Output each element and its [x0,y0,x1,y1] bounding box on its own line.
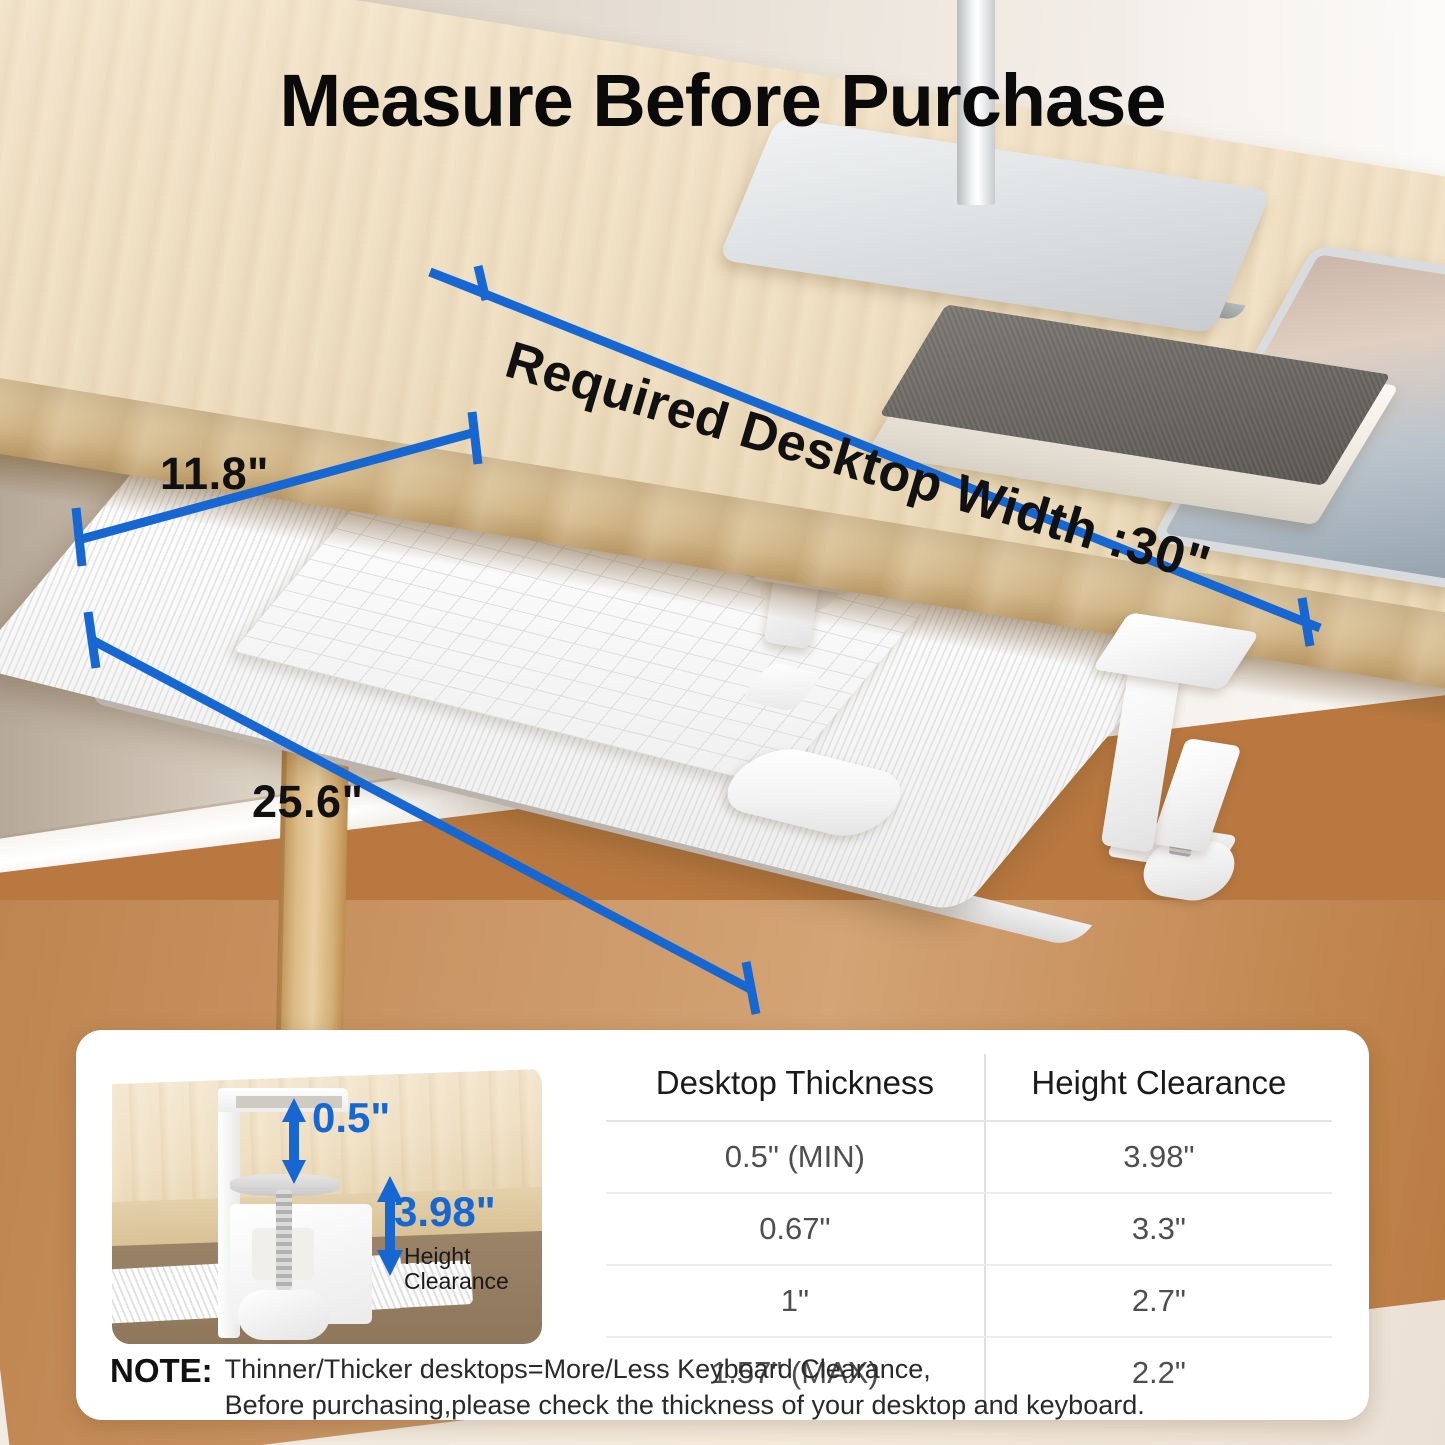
table-cell-thickness: 0.5" (MIN) [606,1121,985,1193]
inset-clearance-caption: Height Clearance [404,1244,509,1295]
inset-clearance-label: 3.98" [394,1188,496,1236]
inset-clearance-caption-line2: Clearance [404,1269,509,1294]
note-text: Thinner/Thicker desktops=More/Less Keybo… [225,1352,1145,1420]
note-line-2: Before purchasing,please check the thick… [225,1388,1145,1420]
page-title: Measure Before Purchase [0,58,1445,143]
spec-card: 0.5" 3.98" Height Clearance Desktop Thic… [76,1030,1369,1420]
clamp-closeup-photo: 0.5" 3.98" Height Clearance [112,1066,542,1344]
table-cell-thickness: 0.67" [606,1193,985,1265]
table-cell-clearance: 3.3" [985,1193,1332,1265]
clearance-table: Desktop Thickness Height Clearance 0.5" … [606,1054,1332,1374]
table-cell-clearance: 2.7" [985,1265,1332,1337]
table-row: 1" 2.7" [606,1265,1332,1337]
note-line-1: Thinner/Thicker desktops=More/Less Keybo… [225,1352,1145,1388]
table-header-row: Desktop Thickness Height Clearance [606,1054,1332,1121]
note-label: NOTE: [110,1352,213,1390]
thickness-arrow-down [282,1160,306,1184]
table-cell-thickness: 1" [606,1265,985,1337]
thickness-arrow-up [282,1098,306,1122]
table-row: 0.5" (MIN) 3.98" [606,1121,1332,1193]
table-header-height-clearance: Height Clearance [985,1054,1332,1121]
table-header-desktop-thickness: Desktop Thickness [606,1054,985,1121]
product-infographic: 11.8" 25.6" Required Desktop Width :30" … [0,0,1445,1445]
table-row: 0.67" 3.3" [606,1193,1332,1265]
inset-thickness-label: 0.5" [312,1094,390,1142]
table-cell-clearance: 3.98" [985,1121,1332,1193]
inset-clearance-caption-line1: Height [404,1244,509,1269]
note-block: NOTE: Thinner/Thicker desktops=More/Less… [110,1352,1340,1420]
clearance-arrow-down [377,1250,403,1276]
